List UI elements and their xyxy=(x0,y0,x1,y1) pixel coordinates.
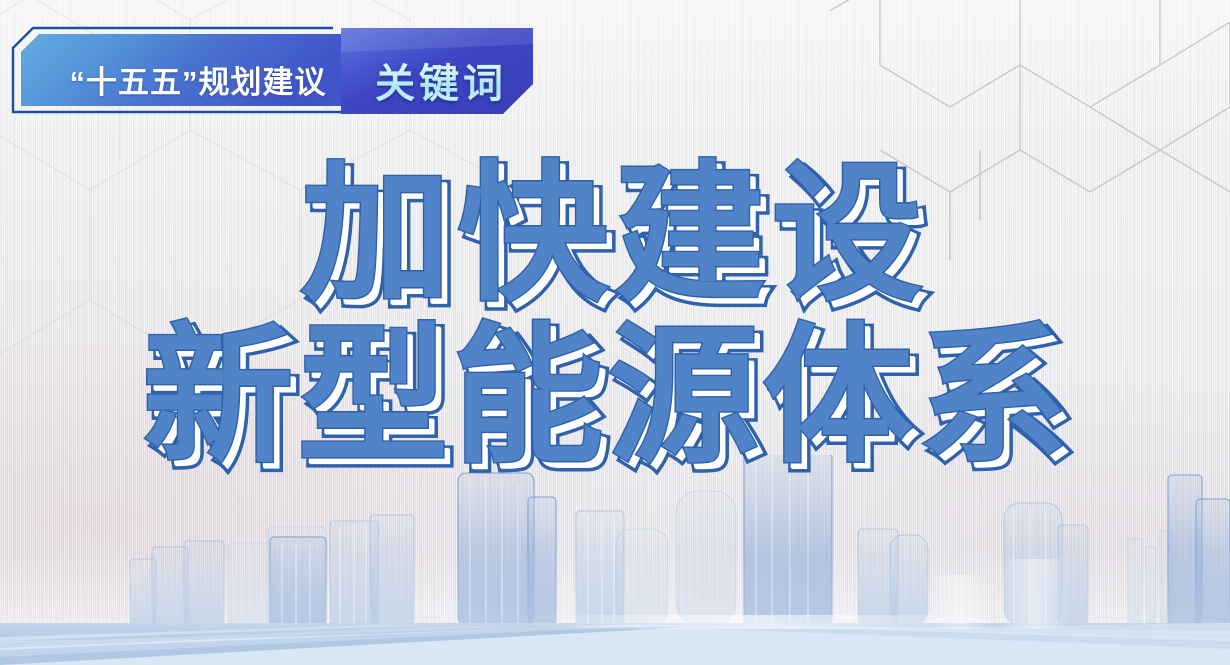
headline-line-2-fill: 新型能源体系 xyxy=(0,312,1230,480)
headline: 加快建设 加快建设 加快建设 加快建设 新型能源体系 新型能源体系 新型能源体系… xyxy=(0,150,1230,480)
headline-line-2: 新型能源体系 新型能源体系 新型能源体系 新型能源体系 xyxy=(0,312,1230,480)
banner-label: “十五五”规划建议 xyxy=(53,56,343,102)
banner-tag: 关键词 xyxy=(348,50,534,110)
headline-line-1: 加快建设 加快建设 加快建设 加快建设 xyxy=(0,150,1230,318)
headline-line-1-fill: 加快建设 xyxy=(0,150,1230,318)
poster-canvas: “十五五”规划建议 关键词 加快建设 加快建设 加快建设 加快建设 新型能源体系… xyxy=(0,0,1230,665)
banner: “十五五”规划建议 关键词 xyxy=(11,26,533,114)
